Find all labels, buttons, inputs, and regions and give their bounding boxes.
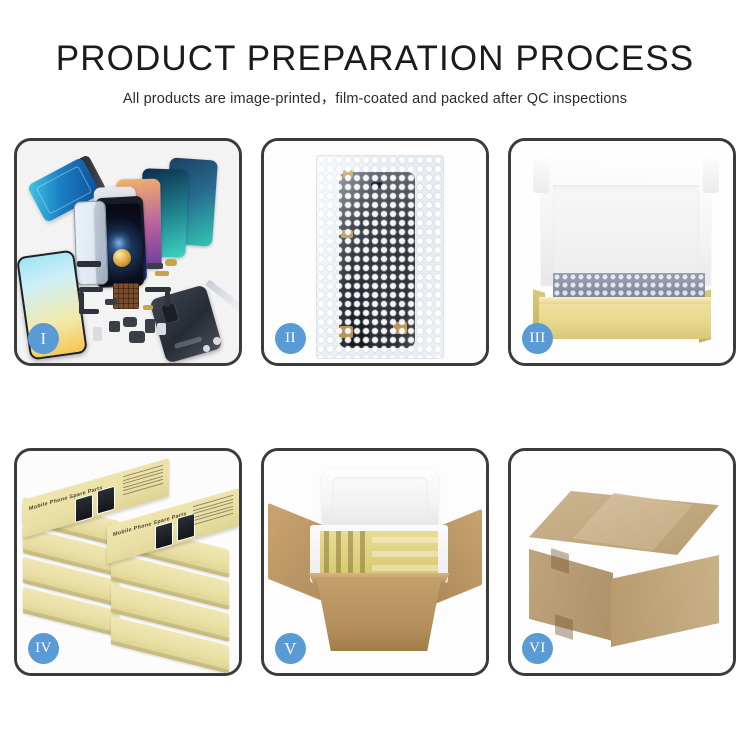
process-step-6: VI (508, 448, 736, 676)
bubble-wrap-bag-icon (316, 155, 444, 359)
small-part-icon (145, 319, 155, 333)
product-preparation-infographic: PRODUCT PREPARATION PROCESS All products… (0, 0, 750, 750)
plastic-gloss (317, 156, 443, 358)
step-badge: II (275, 323, 306, 354)
process-step-3: III (508, 138, 736, 366)
process-step-4: Mobile Phone Spare Parts Mobile Phone Sp… (14, 448, 242, 676)
step-badge: V (275, 633, 306, 664)
small-part-icon (143, 305, 153, 310)
step-badge: I (28, 323, 59, 354)
small-screw-icon (213, 337, 221, 345)
gold-coil-icon (113, 249, 131, 267)
spec-lines (123, 465, 163, 498)
small-part-icon (93, 327, 102, 341)
box-lid-icon (541, 159, 711, 285)
step-badge: IV (28, 633, 59, 664)
step-badge: VI (522, 633, 553, 664)
flex-cable-icon (79, 309, 99, 314)
small-part-icon (109, 321, 120, 332)
small-part-icon (129, 331, 145, 343)
step-badge: III (522, 323, 553, 354)
screen-protector-icon (74, 200, 109, 285)
box-label: Mobile Phone Spare Parts (113, 511, 187, 538)
small-part-icon (147, 263, 163, 269)
speaker-part-icon (77, 261, 101, 267)
bubble-padding-icon (553, 273, 705, 299)
process-step-2: II (261, 138, 489, 366)
small-part-icon (105, 299, 117, 305)
foam-lid-icon (322, 469, 438, 531)
header: PRODUCT PREPARATION PROCESS All products… (0, 38, 750, 108)
chip-grid-icon (113, 283, 139, 309)
yellow-tray-icon (539, 297, 711, 339)
process-step-grid: I II (14, 138, 736, 676)
carton-body (308, 577, 450, 651)
yellow-boxes-icon (320, 531, 438, 575)
small-part-icon (157, 323, 166, 335)
process-step-1: I (14, 138, 242, 366)
process-step-5: V (261, 448, 489, 676)
page-title: PRODUCT PREPARATION PROCESS (0, 38, 750, 80)
phone-artwork-icon (97, 486, 115, 515)
page-subtitle: All products are image-printed，film-coat… (0, 90, 750, 108)
flex-cable-icon (165, 291, 170, 307)
small-part-icon (165, 259, 177, 266)
small-screw-icon (203, 345, 210, 352)
small-part-icon (155, 271, 169, 276)
spec-lines (193, 495, 233, 528)
small-part-icon (123, 317, 137, 327)
